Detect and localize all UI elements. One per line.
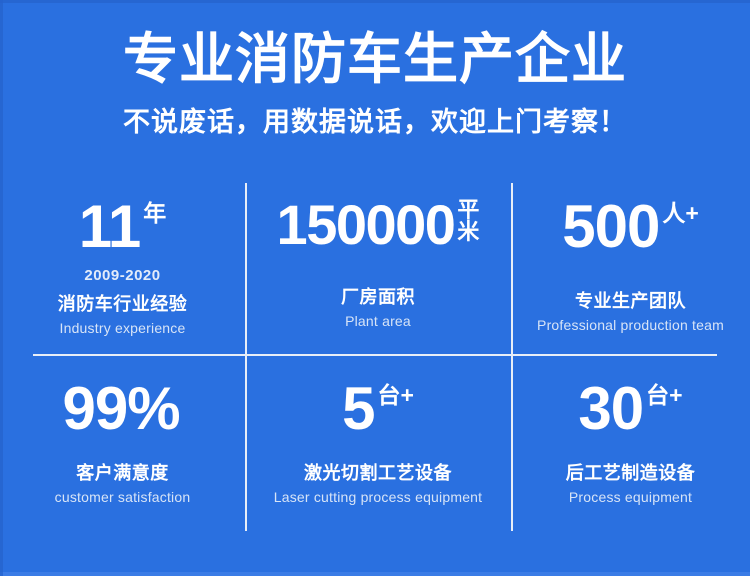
stat-unit-bottom: 米: [457, 221, 479, 243]
stat-labels: 消防车行业经验 Industry experience: [58, 290, 188, 336]
stat-label-en: Industry experience: [60, 320, 186, 336]
bottom-edge-strip: [0, 572, 750, 576]
stat-label-en: Laser cutting process equipment: [274, 489, 483, 505]
stat-cell-process-equipment: 30 台+ 后工艺制造设备 Process equipment: [511, 355, 750, 531]
stat-figure: 150000 平 米: [277, 197, 480, 253]
stat-unit: 平 米: [457, 197, 479, 244]
stat-unit: 台+: [377, 379, 413, 407]
stat-label-cn: 消防车行业经验: [58, 290, 188, 316]
stat-number: 11: [79, 197, 140, 257]
stat-figure: 500 人+: [562, 197, 699, 257]
promo-poster: 专业消防车生产企业 不说废话，用数据说话，欢迎上门考察！ 11 年 2009-2…: [0, 0, 750, 576]
stat-label-cn: 激光切割工艺设备: [304, 459, 452, 485]
stat-labels: 厂房面积 Plant area: [341, 283, 415, 329]
stat-labels: 专业生产团队 Professional production team: [537, 287, 724, 333]
stat-label-en: customer satisfaction: [55, 489, 191, 505]
stat-figure: 5 台+: [342, 379, 414, 439]
stat-cell-laser-cutting-equipment: 5 台+ 激光切割工艺设备 Laser cutting process equi…: [245, 355, 511, 531]
stat-number: 99%: [62, 379, 179, 439]
stat-figure: 99%: [62, 379, 182, 439]
stat-cell-industry-experience: 11 年 2009-2020 消防车行业经验 Industry experien…: [0, 183, 245, 355]
stat-number: 150000: [277, 197, 455, 253]
stat-labels: 激光切割工艺设备 Laser cutting process equipment: [274, 459, 483, 505]
stat-unit: 台+: [646, 379, 682, 407]
stat-label-cn: 后工艺制造设备: [566, 459, 696, 485]
stat-label-en: Professional production team: [537, 317, 724, 333]
stat-number: 500: [562, 197, 659, 257]
stat-unit-top: 平: [457, 199, 479, 221]
stat-unit: 人+: [662, 197, 698, 225]
stat-year-range: 2009-2020: [84, 267, 160, 284]
stat-cell-customer-satisfaction: 99% 客户满意度 customer satisfaction: [0, 355, 245, 531]
stat-label-cn: 专业生产团队: [575, 287, 686, 313]
stat-cell-plant-area: 150000 平 米 厂房面积 Plant area: [245, 183, 511, 355]
stats-grid: 11 年 2009-2020 消防车行业经验 Industry experien…: [0, 183, 750, 531]
stat-cell-production-team: 500 人+ 专业生产团队 Professional production te…: [511, 183, 750, 355]
stat-label-cn: 客户满意度: [76, 459, 169, 485]
stat-figure: 30 台+: [578, 379, 682, 439]
stat-labels: 后工艺制造设备 Process equipment: [566, 459, 696, 505]
stat-labels: 客户满意度 customer satisfaction: [55, 459, 191, 505]
stat-label-en: Process equipment: [569, 489, 692, 505]
poster-header: 专业消防车生产企业 不说废话，用数据说话，欢迎上门考察！: [0, 26, 750, 142]
stat-label-cn: 厂房面积: [341, 283, 415, 309]
stat-number: 30: [578, 379, 643, 439]
stat-label-en: Plant area: [345, 313, 411, 329]
page-title: 专业消防车生产企业: [0, 26, 750, 92]
page-subtitle: 不说废话，用数据说话，欢迎上门考察！: [0, 102, 750, 142]
stat-figure: 11 年: [79, 197, 166, 257]
stat-number: 5: [342, 379, 374, 439]
stat-unit: 年: [143, 197, 166, 225]
